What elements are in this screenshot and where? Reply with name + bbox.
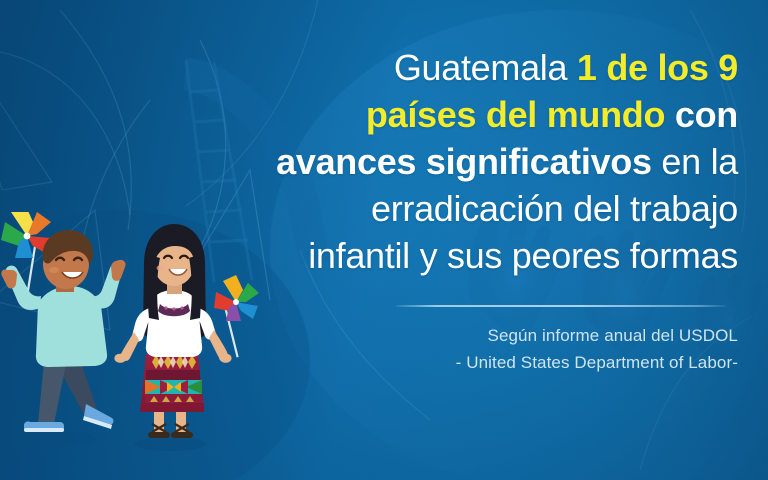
headline-seg-regular: en la (652, 141, 738, 182)
headline-seg-regular: Guatemala (394, 47, 577, 88)
girl-cheek (157, 265, 166, 271)
girl-hand-left (114, 354, 127, 363)
boy-leg-front (38, 362, 66, 424)
headline-seg-highlight: países del mundo (366, 94, 665, 135)
girl-hand-right (219, 354, 232, 363)
credit-line-2: - United States Department of Labor- (330, 349, 738, 376)
children-illustration (0, 212, 274, 480)
girl-figure (114, 224, 259, 438)
headline-line-1: Guatemala 1 de los 9 (160, 44, 738, 91)
shadow-boy (28, 432, 96, 446)
headline-seg-bold: avances significativos (276, 141, 652, 182)
boy-cheek (49, 267, 59, 273)
girl-skirt (140, 354, 204, 412)
source-credit: Según informe anual del USDOL - United S… (330, 322, 738, 376)
girl-sandals (148, 424, 193, 438)
headline-line-3: avances significativos en la (160, 138, 738, 185)
headline-seg-bold: con (665, 94, 738, 135)
shadow-girl (134, 437, 206, 451)
infographic-canvas: Guatemala 1 de los 9 países del mundo co… (0, 0, 768, 480)
headline-seg-highlight: 1 de los 9 (577, 47, 738, 88)
boy-hand-right (111, 260, 126, 281)
headline-line-2: países del mundo con (160, 91, 738, 138)
credit-line-1: Según informe anual del USDOL (330, 322, 738, 349)
boy-hand-left (1, 269, 17, 288)
divider-rule (396, 305, 726, 307)
boy-figure (1, 212, 126, 432)
